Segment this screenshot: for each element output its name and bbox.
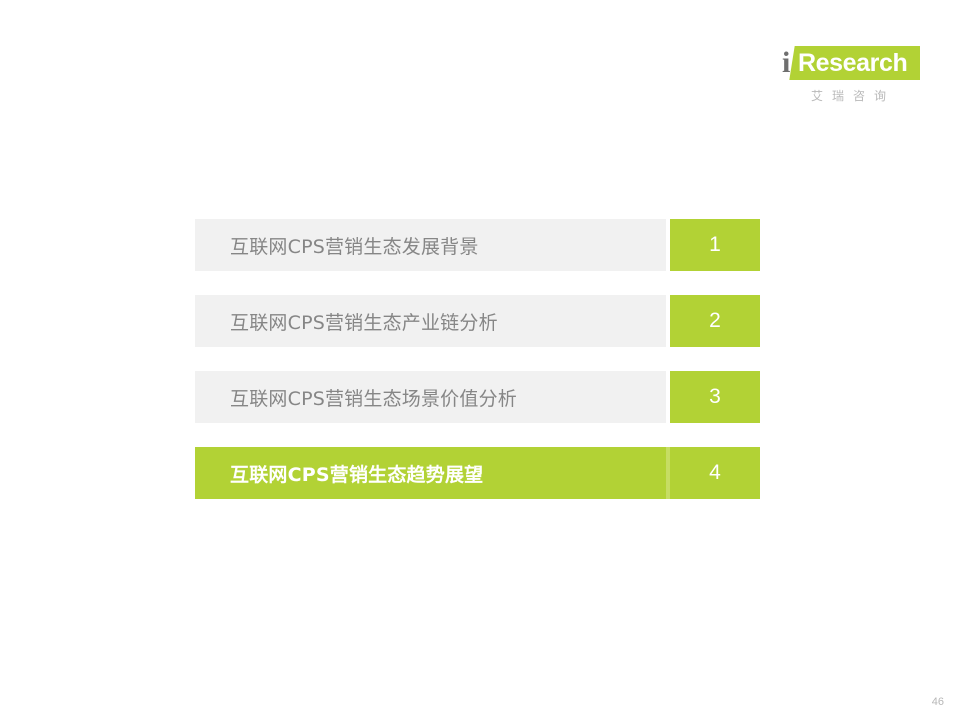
agenda-row-number: 4	[709, 461, 721, 485]
agenda-row-title[interactable]: 互联网CPS营销生态发展背景	[195, 219, 666, 271]
logo-mark: i Research	[778, 42, 918, 88]
agenda-row-number-box[interactable]: 2	[670, 295, 760, 347]
iresearch-logo: i Research 艾瑞咨询	[778, 42, 918, 114]
agenda-row-label: 互联网CPS营销生态场景价值分析	[230, 384, 517, 411]
agenda-row-label: 互联网CPS营销生态发展背景	[230, 232, 479, 259]
agenda-row-number: 2	[709, 309, 721, 333]
logo-chinese-name: 艾瑞咨询	[790, 88, 916, 104]
agenda-row-title[interactable]: 互联网CPS营销生态趋势展望	[195, 447, 666, 499]
agenda-row-title[interactable]: 互联网CPS营销生态产业链分析	[195, 295, 666, 347]
agenda-list: 互联网CPS营销生态发展背景 1 互联网CPS营销生态产业链分析 2 互联网CP…	[195, 219, 760, 499]
agenda-row-number: 1	[709, 233, 721, 257]
agenda-row-number-box[interactable]: 4	[670, 447, 760, 499]
logo-wordmark: Research	[798, 49, 907, 77]
agenda-row[interactable]: 互联网CPS营销生态场景价值分析 3	[195, 371, 760, 423]
agenda-row-active[interactable]: 互联网CPS营销生态趋势展望 4	[195, 447, 760, 499]
agenda-row-number-box[interactable]: 3	[670, 371, 760, 423]
agenda-row-label: 互联网CPS营销生态趋势展望	[230, 460, 483, 487]
page-number: 46	[932, 696, 944, 708]
logo-initial: i	[782, 48, 790, 78]
agenda-row-title[interactable]: 互联网CPS营销生态场景价值分析	[195, 371, 666, 423]
agenda-row-number: 3	[709, 385, 721, 409]
agenda-row[interactable]: 互联网CPS营销生态产业链分析 2	[195, 295, 760, 347]
agenda-row[interactable]: 互联网CPS营销生态发展背景 1	[195, 219, 760, 271]
agenda-row-number-box[interactable]: 1	[670, 219, 760, 271]
agenda-row-label: 互联网CPS营销生态产业链分析	[230, 308, 498, 335]
